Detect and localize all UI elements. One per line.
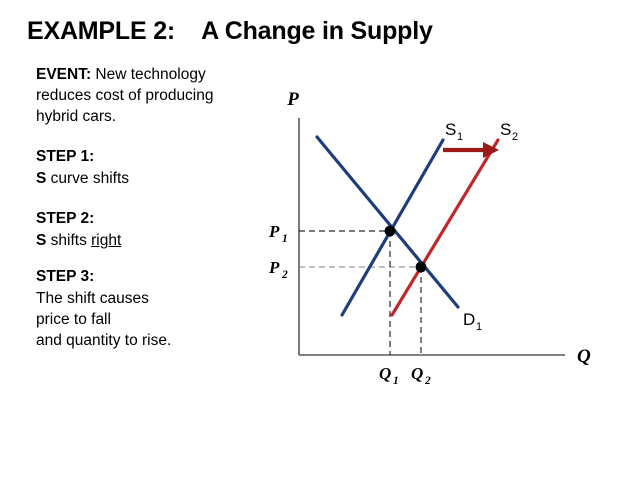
step1-block: STEP 1: S curve shifts bbox=[36, 146, 286, 189]
event-line-1-text: New technology bbox=[91, 66, 206, 83]
curve-label-s1-text: S bbox=[445, 120, 456, 139]
explanation-text-column: EVENT: New technology reduces cost of pr… bbox=[36, 64, 286, 361]
supply-curve-s2 bbox=[392, 140, 498, 315]
qty-label-q1: Q 1 bbox=[379, 364, 399, 387]
price-label-p2-text: P bbox=[268, 258, 280, 277]
demand-curve-d1 bbox=[317, 137, 458, 307]
event-line-1: EVENT: New technology bbox=[36, 64, 286, 85]
qty-label-q1-text: Q bbox=[379, 364, 391, 383]
step1-body: S curve shifts bbox=[36, 168, 286, 189]
qty-label-q2-text: Q bbox=[411, 364, 423, 383]
price-label-p2-subscript: 2 bbox=[281, 269, 288, 281]
price-label-p1-text: P bbox=[268, 222, 280, 241]
y-axis-label: P bbox=[286, 89, 299, 110]
step1-heading: STEP 1: bbox=[36, 146, 286, 168]
step3-heading: STEP 3: bbox=[36, 266, 286, 288]
curve-label-s2: S 2 bbox=[500, 120, 518, 143]
curve-label-s2-subscript: 2 bbox=[512, 131, 518, 143]
step2-block: STEP 2: S shifts right bbox=[36, 208, 286, 251]
step3-line-3: and quantity to rise. bbox=[36, 330, 286, 351]
page-title: EXAMPLE 2: A Change in Supply bbox=[27, 18, 433, 46]
price-label-p1-subscript: 1 bbox=[282, 233, 288, 245]
step2-body-text: shifts bbox=[46, 232, 91, 249]
price-label-p2: P 2 bbox=[268, 258, 288, 281]
x-axis-label: Q bbox=[577, 346, 591, 367]
step1-lead-label: S bbox=[36, 170, 46, 187]
price-label-p1: P 1 bbox=[268, 222, 288, 245]
step3-line-1: The shift causes bbox=[36, 288, 286, 309]
step3-block: STEP 3: The shift causes price to fall a… bbox=[36, 266, 286, 351]
supply-shift-arrow bbox=[443, 142, 499, 158]
equilibrium-point-2 bbox=[416, 262, 427, 273]
event-block: EVENT: New technology reduces cost of pr… bbox=[36, 64, 286, 127]
curve-label-s2-text: S bbox=[500, 120, 511, 139]
slide-canvas: EXAMPLE 2: A Change in Supply EVENT: New… bbox=[0, 0, 640, 480]
qty-label-q1-subscript: 1 bbox=[393, 375, 399, 387]
supply-demand-chart: P Q P 1 P 2 Q 1 Q 2 S 1 bbox=[255, 75, 640, 405]
qty-label-q2-subscript: 2 bbox=[424, 375, 431, 387]
equilibrium-point-1 bbox=[385, 226, 396, 237]
curve-label-s1-subscript: 1 bbox=[457, 131, 463, 143]
step2-body: S shifts right bbox=[36, 230, 286, 251]
spacer-after-event bbox=[36, 137, 286, 146]
curve-label-d1: D 1 bbox=[463, 310, 482, 333]
curve-label-d1-subscript: 1 bbox=[476, 321, 482, 333]
curve-label-d1-text: D bbox=[463, 310, 475, 329]
step1-body-text: curve shifts bbox=[46, 170, 129, 187]
step2-heading: STEP 2: bbox=[36, 208, 286, 230]
event-lead-label: EVENT: bbox=[36, 66, 91, 83]
curve-label-s1: S 1 bbox=[445, 120, 463, 143]
event-line-3: hybrid cars. bbox=[36, 106, 286, 127]
spacer-after-step1 bbox=[36, 199, 286, 208]
step3-line-2: price to fall bbox=[36, 309, 286, 330]
event-line-2: reduces cost of producing bbox=[36, 85, 286, 106]
qty-label-q2: Q 2 bbox=[411, 364, 431, 387]
step2-emphasis-text: right bbox=[91, 232, 121, 249]
step2-lead-label: S bbox=[36, 232, 46, 249]
